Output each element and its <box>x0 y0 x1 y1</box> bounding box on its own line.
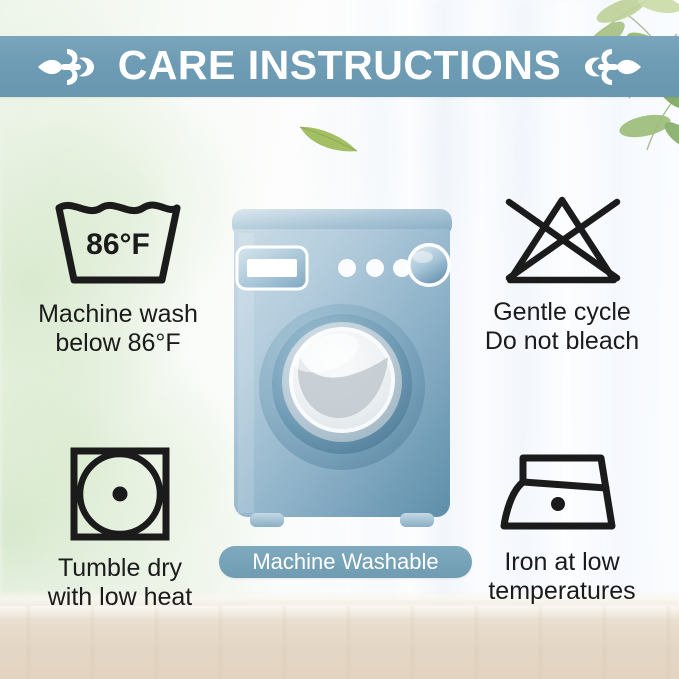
wash-tub-icon: 86°F <box>43 196 193 292</box>
care-symbol-label: Gentle cycle Do not bleach <box>485 298 639 356</box>
care-instructions-graphic: CARE INSTRUCTIONS 86°F Machine wash belo… <box>0 0 679 679</box>
wood-surface <box>0 606 679 679</box>
iron-icon <box>490 448 634 540</box>
care-symbol-label: Machine wash below 86°F <box>38 300 198 358</box>
header-banner: CARE INSTRUCTIONS <box>0 36 679 97</box>
care-symbol-no-bleach: Gentle cycle Do not bleach <box>452 190 672 356</box>
triangle-crossed-icon <box>487 190 637 290</box>
fleur-de-lis-ornament-icon <box>36 44 98 90</box>
care-symbol-machine-wash: 86°F Machine wash below 86°F <box>8 196 228 358</box>
badge-label: Machine Washable <box>252 551 438 574</box>
tumble-dry-icon <box>65 442 175 546</box>
care-symbol-iron: Iron at low temperatures <box>452 448 672 606</box>
wash-temperature-value: 86°F <box>86 228 150 261</box>
washing-machine-illustration <box>228 207 456 539</box>
care-symbol-label: Tumble dry with low heat <box>48 554 193 612</box>
page-title: CARE INSTRUCTIONS <box>118 45 562 88</box>
care-symbol-label: Iron at low temperatures <box>488 548 635 606</box>
fleur-de-lis-ornament-icon <box>581 44 643 90</box>
care-symbol-tumble-dry: Tumble dry with low heat <box>10 442 230 612</box>
machine-washable-badge: Machine Washable <box>219 546 472 578</box>
